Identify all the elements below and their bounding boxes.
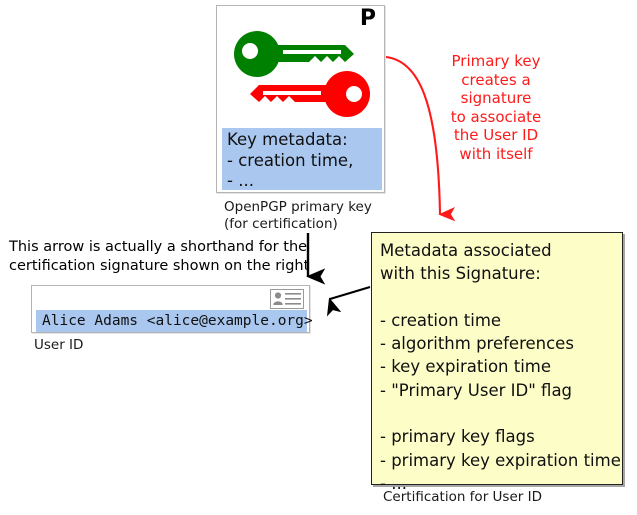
primary-key-caption-line2: (for certification) xyxy=(224,216,372,233)
shorthand-arrow-annotation-line1: This arrow is actually a shorthand for t… xyxy=(9,238,309,257)
primary-key-card: P Key metadata: - creation time, - ... xyxy=(216,5,385,193)
red-annotation-line: to associate xyxy=(437,108,555,127)
key-metadata-line: - creation time, xyxy=(227,151,378,172)
key-icon-green xyxy=(234,31,354,77)
shorthand-arrow-annotation: This arrow is actually a shorthand for t… xyxy=(9,238,309,276)
red-annotation-line: Primary key xyxy=(437,52,555,71)
certification-line: - algorithm preferences xyxy=(380,332,622,355)
certification-spacer xyxy=(380,402,622,425)
key-metadata-line: - ... xyxy=(227,171,378,192)
user-id-value-strip: Alice Adams <alice@example.org> xyxy=(36,310,307,332)
key-icon-red xyxy=(250,71,370,117)
certification-line: - creation time xyxy=(380,309,622,332)
primary-key-caption-line1: OpenPGP primary key xyxy=(224,199,372,216)
certification-line: - key expiration time xyxy=(380,355,622,378)
red-annotation-line: with itself xyxy=(437,145,555,164)
red-annotation-line: the User ID xyxy=(437,126,555,145)
diagram-canvas: P Key metadata: - creation time, - ... xyxy=(0,0,637,515)
shorthand-arrow-annotation-line2: certification signature shown on the rig… xyxy=(9,257,309,276)
user-id-value: Alice Adams <alice@example.org> xyxy=(42,313,313,329)
certification-line: - "Primary User ID" flag xyxy=(380,379,622,402)
contact-card-icon xyxy=(270,289,304,309)
certification-line: - primary key flags xyxy=(380,425,622,448)
red-annotation-text: Primary key creates a signature to assoc… xyxy=(437,52,555,163)
red-annotation-line: creates a xyxy=(437,71,555,90)
certification-line: - primary key expiration time xyxy=(380,449,622,472)
user-id-caption: User ID xyxy=(34,337,83,354)
certification-line: Metadata associated xyxy=(380,239,622,262)
certification-link-arrow xyxy=(330,287,370,299)
user-id-box: Alice Adams <alice@example.org> xyxy=(31,285,310,333)
certification-line: with this Signature: xyxy=(380,262,622,285)
key-metadata-block: Key metadata: - creation time, - ... xyxy=(222,128,382,190)
certification-spacer xyxy=(380,286,622,309)
red-curved-arrow xyxy=(386,57,440,214)
red-annotation-line: signature xyxy=(437,89,555,108)
certification-metadata-box: Metadata associated with this Signature:… xyxy=(371,232,623,485)
key-pair-illustration xyxy=(227,26,377,121)
key-metadata-line: Key metadata: xyxy=(227,130,378,151)
certification-caption: Certification for User ID xyxy=(383,489,542,506)
primary-key-caption: OpenPGP primary key (for certification) xyxy=(224,199,372,233)
